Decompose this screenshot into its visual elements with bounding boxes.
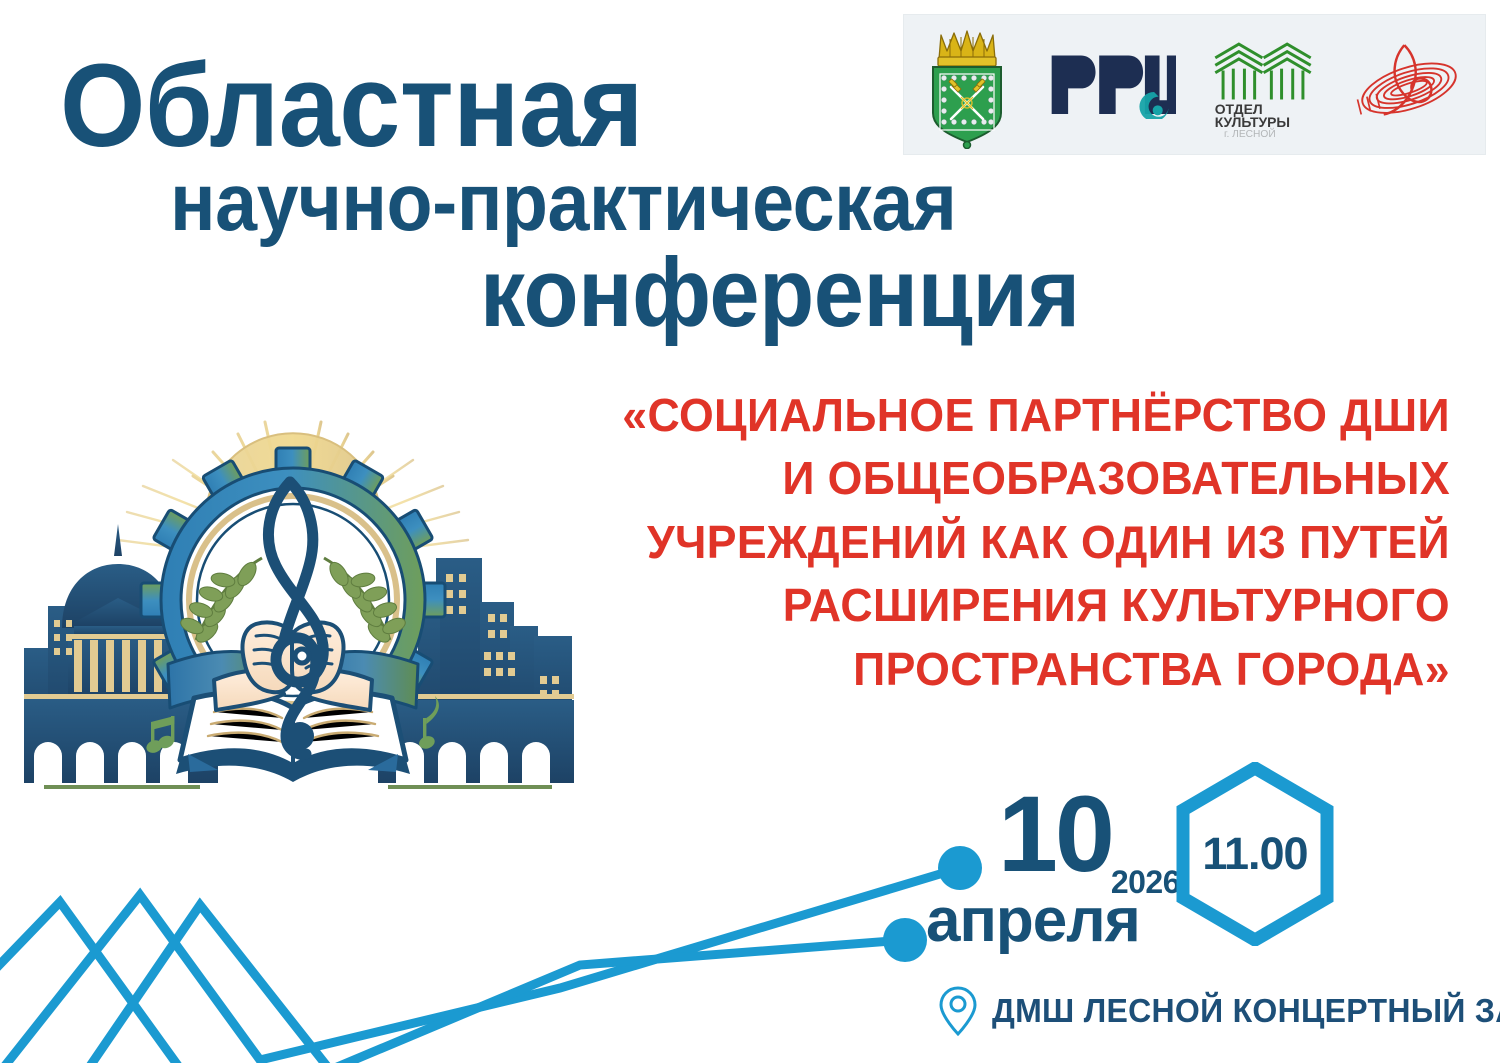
polyline-end-dot [883, 918, 927, 962]
headline-line-1: Областная [60, 52, 643, 161]
coat-of-arms-lesnoy-icon [921, 21, 1013, 149]
event-month: апреля [926, 890, 1140, 952]
logo-slot-ppc [1048, 29, 1176, 141]
polyline-graph-decoration [0, 780, 1050, 1063]
ppc-logo-icon [1048, 50, 1176, 119]
theme-line: УЧРЕЖДЕНИЙ КАК ОДИН ИЗ ПУТЕЙ [548, 511, 1450, 574]
event-venue: ДМШ ЛЕСНОЙ КОНЦЕРТНЫЙ ЗАЛ [938, 985, 1500, 1037]
theme-line: ПРОСТРАНСТВА ГОРОДА» [548, 638, 1450, 701]
event-time-badge: 11.00 [1175, 762, 1335, 946]
theme-line: РАСШИРЕНИЯ КУЛЬТУРНОГО [548, 574, 1450, 637]
otdel-label-line2: КУЛЬТУРЫ [1215, 113, 1290, 129]
headline-line-2: научно-практическая [170, 165, 956, 240]
poster-root: ОТДЕЛ КУЛЬТУРЫ г. ЛЕСНОЙ [0, 0, 1500, 1063]
headline-line-3: конференция [480, 248, 1080, 337]
logo-strip: ОТДЕЛ КУЛЬТУРЫ г. ЛЕСНОЙ [903, 14, 1486, 155]
logo-slot-dmsh [1350, 29, 1468, 141]
map-pin-icon [938, 985, 978, 1037]
event-time-value: 11.00 [1175, 762, 1335, 946]
otdel-kultury-logo-icon: ОТДЕЛ КУЛЬТУРЫ г. ЛЕСНОЙ [1211, 33, 1315, 137]
theme-line: И ОБЩЕОБРАЗОВАТЕЛЬНЫХ [548, 447, 1450, 510]
event-venue-text: ДМШ ЛЕСНОЙ КОНЦЕРТНЫЙ ЗАЛ [992, 992, 1500, 1030]
otdel-label-line3: г. ЛЕСНОЙ [1224, 127, 1276, 137]
theme-line: «СОЦИАЛЬНОЕ ПАРТНЁРСТВО ДШИ [548, 384, 1450, 447]
event-day: 10 [998, 780, 1112, 888]
logo-slot-coat-of-arms [921, 29, 1013, 141]
logo-slot-otdel-kultury: ОТДЕЛ КУЛЬТУРЫ г. ЛЕСНОЙ [1211, 29, 1315, 141]
conference-emblem [18, 388, 578, 790]
event-date: 10 2026 апреля [930, 782, 1190, 962]
conference-theme: «СОЦИАЛЬНОЕ ПАРТНЁРСТВО ДШИ И ОБЩЕОБРАЗО… [520, 384, 1450, 701]
dmsh-lesnoy-logo-icon [1350, 32, 1468, 137]
